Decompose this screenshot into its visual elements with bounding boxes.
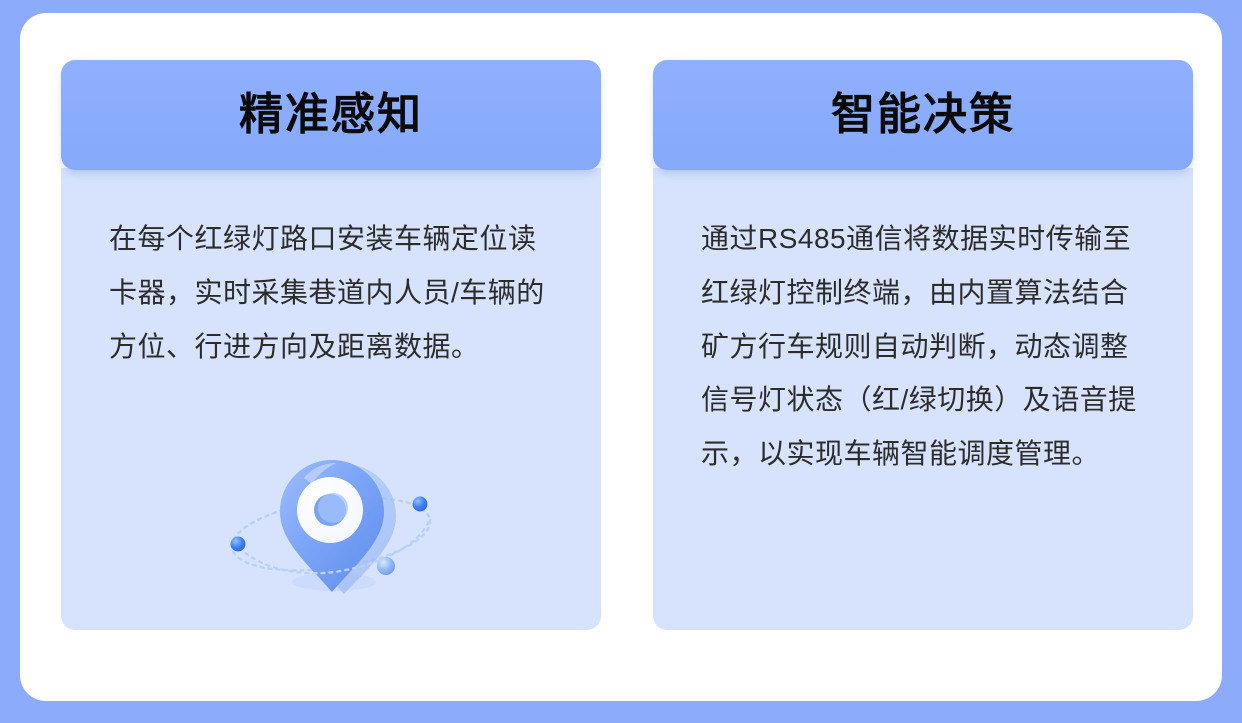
feature-card-intelligent-decision: 智能决策 通过RS485通信将数据实时传输至红绿灯控制终端，由内置算法结合矿方行… (653, 60, 1193, 630)
card-title-intelligent-decision: 智能决策 (831, 93, 1015, 137)
feature-card-row: 精准感知 在每个红绿灯路口安装车辆定位读卡器，实时采集巷道内人员/车辆的方位、行… (61, 60, 1201, 630)
floating-sphere (377, 557, 395, 575)
location-pin-orbit-illustration (216, 442, 446, 612)
content-panel: 精准感知 在每个红绿灯路口安装车辆定位读卡器，实时采集巷道内人员/车辆的方位、行… (20, 13, 1222, 701)
card-text-intelligent-decision: 通过RS485通信将数据实时传输至红绿灯控制终端，由内置算法结合矿方行车规则自动… (701, 212, 1145, 481)
orbit-sphere-left (231, 537, 246, 552)
card-header-precise-sensing: 精准感知 (61, 60, 601, 170)
location-pin-icon (280, 460, 396, 594)
card-text-precise-sensing: 在每个红绿灯路口安装车辆定位读卡器，实时采集巷道内人员/车辆的方位、行进方向及距… (109, 212, 553, 373)
card-title-precise-sensing: 精准感知 (239, 93, 423, 137)
feature-card-precise-sensing: 精准感知 在每个红绿灯路口安装车辆定位读卡器，实时采集巷道内人员/车辆的方位、行… (61, 60, 601, 630)
card-body-precise-sensing: 在每个红绿灯路口安装车辆定位读卡器，实时采集巷道内人员/车辆的方位、行进方向及距… (61, 168, 601, 630)
orbit-sphere-right (413, 497, 428, 512)
card-header-intelligent-decision: 智能决策 (653, 60, 1193, 170)
card-body-intelligent-decision: 通过RS485通信将数据实时传输至红绿灯控制终端，由内置算法结合矿方行车规则自动… (653, 168, 1193, 630)
